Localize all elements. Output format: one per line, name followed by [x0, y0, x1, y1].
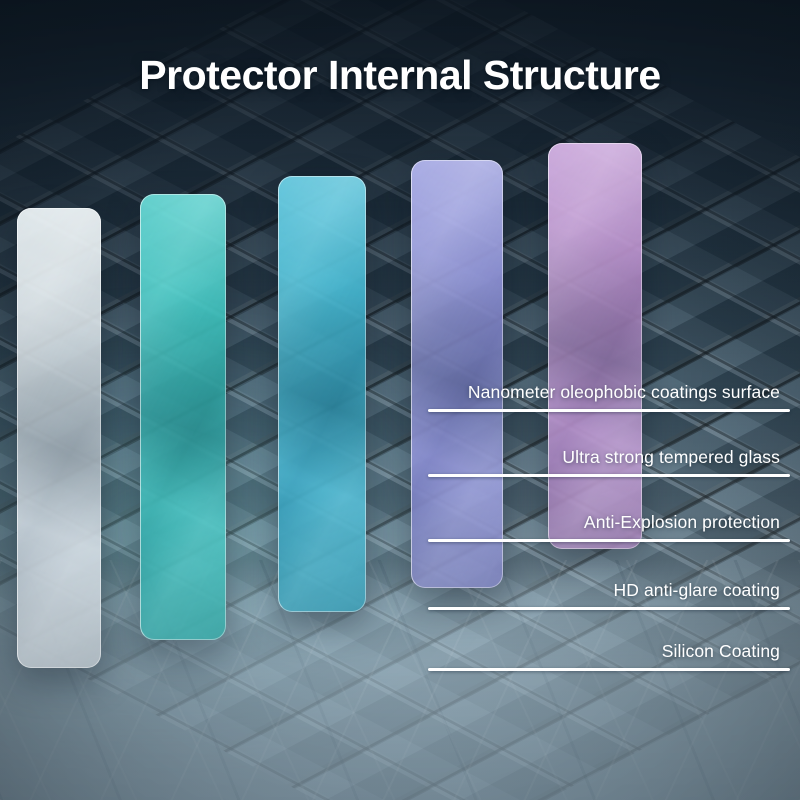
callout-silicon-coating: Silicon Coating	[428, 634, 790, 671]
panel-edge	[548, 143, 642, 549]
panel-edge	[17, 208, 101, 668]
callout-hd-anti-glare-coating: HD anti-glare coating	[428, 573, 790, 610]
callout-nanometer-oleophobic-coatings-surface: Nanometer oleophobic coatings surface	[428, 375, 790, 412]
callout-label: Nanometer oleophobic coatings surface	[468, 382, 780, 403]
layer-panel-clear-silicon	[17, 208, 101, 668]
layer-panel-cyan-blue	[278, 176, 366, 612]
callout-ultra-strong-tempered-glass: Ultra strong tempered glass	[428, 440, 790, 477]
callout-anti-explosion-protection: Anti-Explosion protection	[428, 505, 790, 542]
callout-label: HD anti-glare coating	[614, 580, 781, 601]
callout-leader-line	[428, 607, 790, 610]
panel-edge	[278, 176, 366, 612]
page-title: Protector Internal Structure	[0, 52, 800, 99]
infographic-canvas: Protector Internal Structure Nanometer o…	[0, 0, 800, 800]
panel-edge	[140, 194, 226, 640]
callout-leader-line	[428, 474, 790, 477]
callout-label: Anti-Explosion protection	[584, 512, 780, 533]
layer-panel-pink-purple	[548, 143, 642, 549]
layer-panel-green-teal	[140, 194, 226, 640]
callout-leader-line	[428, 539, 790, 542]
callout-label: Ultra strong tempered glass	[562, 447, 780, 468]
callout-leader-line	[428, 409, 790, 412]
callout-label: Silicon Coating	[662, 641, 780, 662]
callout-leader-line	[428, 668, 790, 671]
